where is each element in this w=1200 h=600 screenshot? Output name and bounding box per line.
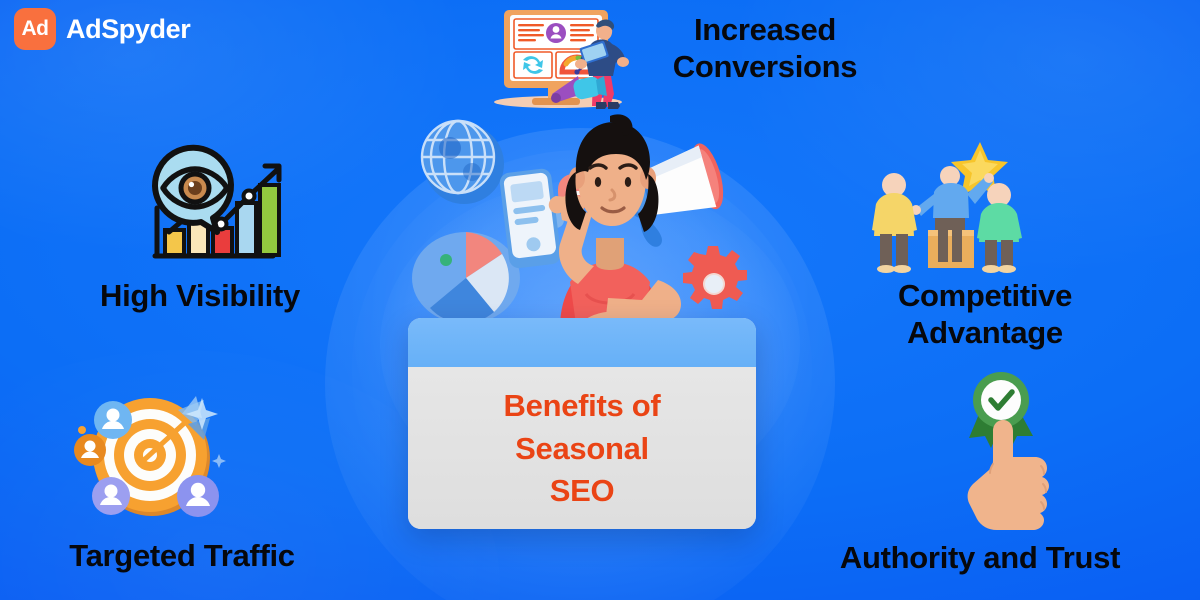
card-header-bar (408, 318, 756, 367)
center-illustration (410, 112, 750, 337)
card-title-line-3: SEO (550, 470, 615, 513)
brand-logo[interactable]: Ad AdSpyder (14, 8, 190, 50)
label-competitive-advantage: Competitive Advantage (835, 278, 1135, 351)
label-increased-conversions: Increased Conversions (620, 12, 910, 85)
high-visibility-icon (145, 148, 285, 270)
competitive-advantage-icon (868, 138, 1028, 278)
label-targeted-traffic: Targeted Traffic (22, 538, 342, 575)
card-body: Benefits of Seasonal SEO (408, 367, 756, 529)
increased-conversions-icon (486, 2, 636, 110)
brand-name: AdSpyder (66, 14, 190, 45)
adspyder-logo-icon: Ad (14, 8, 56, 50)
label-high-visibility: High Visibility (55, 278, 345, 315)
authority-and-trust-icon (955, 362, 1075, 527)
infographic-canvas: Ad AdSpyder (0, 0, 1200, 600)
targeted-traffic-icon (78, 388, 233, 523)
card-title-line-2: Seasonal (515, 428, 649, 471)
center-title-card: Benefits of Seasonal SEO (408, 318, 756, 529)
card-title-line-1: Benefits of (504, 385, 661, 428)
label-authority-and-trust: Authority and Trust (795, 540, 1165, 577)
